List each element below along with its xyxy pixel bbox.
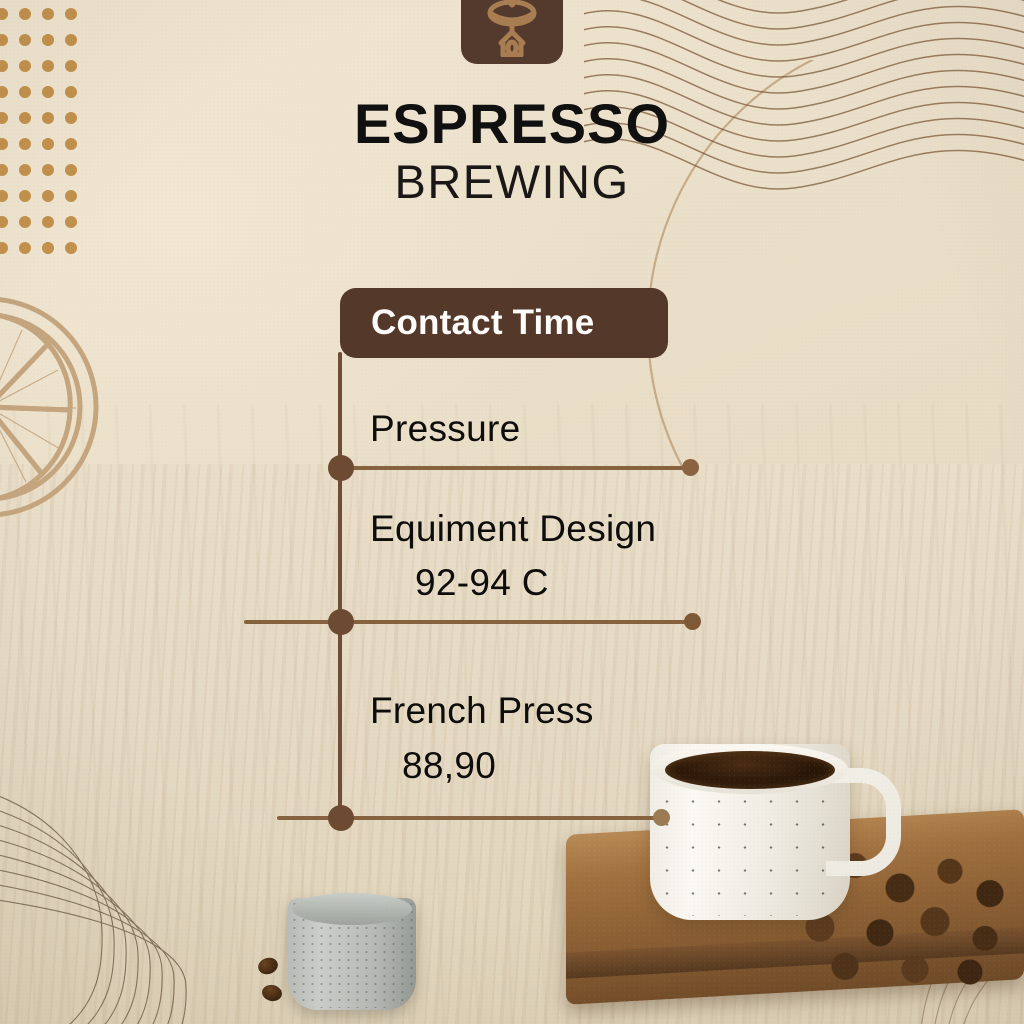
espresso-cup-speckles — [654, 790, 846, 916]
timeline-spine — [338, 352, 342, 822]
timeline-node-2[interactable] — [328, 609, 354, 635]
connector-line-2 — [244, 620, 692, 624]
step-value-equipment-design: 92-94 C — [415, 562, 549, 604]
page-title: ESPRESSO BREWING — [0, 96, 1024, 205]
title-subtitle: BREWING — [0, 158, 1024, 205]
glass-coffee-mug: Gourmet Gourmet — [22, 527, 312, 927]
step-label-french-press: French Press — [370, 690, 594, 732]
connector-endpoint-3 — [653, 809, 670, 826]
timeline-node-1[interactable] — [328, 455, 354, 481]
espresso-cup-handle — [826, 768, 901, 876]
title-main: ESPRESSO — [0, 96, 1024, 152]
contact-time-label: Contact Time — [371, 303, 594, 343]
step-label-equipment-design: Equiment Design — [370, 508, 656, 550]
timeline-node-3[interactable] — [328, 805, 354, 831]
logo-badge — [461, 0, 563, 64]
step-value-french-press: 88,90 — [402, 745, 496, 787]
contact-time-pill[interactable]: Contact Time — [340, 288, 668, 358]
step-label-pressure: Pressure — [370, 408, 520, 450]
poster-canvas: Gourmet Gourmet — [0, 0, 1024, 1024]
bowl-rim — [292, 893, 412, 925]
connector-endpoint-1 — [682, 459, 699, 476]
connector-line-1 — [341, 466, 691, 470]
connector-endpoint-2 — [684, 613, 701, 630]
coffee-grinder-icon — [479, 0, 545, 57]
espresso-cup-coffee — [665, 751, 835, 789]
french-press — [830, 255, 1024, 855]
